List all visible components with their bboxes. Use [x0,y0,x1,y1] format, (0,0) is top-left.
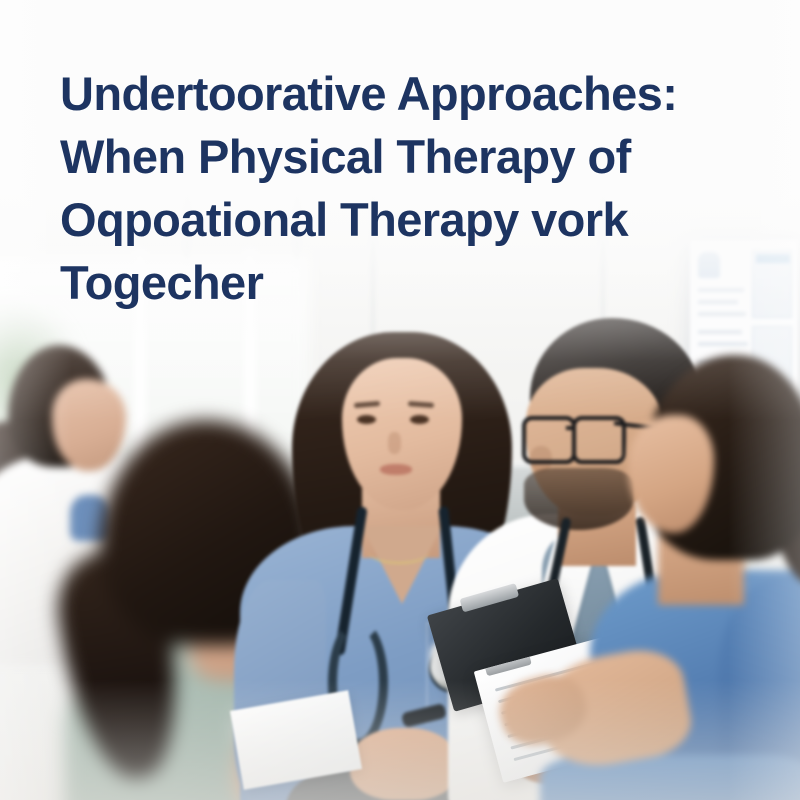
necklace [368,538,430,564]
headline-line-2: When Physical Therapy of [60,125,740,188]
beard [524,468,634,530]
headline-line-4: Togecher [60,251,740,314]
floor [0,680,800,800]
mouth [380,464,412,475]
blog-header-card: Undertoorative Approaches: When Physical… [0,0,800,800]
eye [410,415,429,424]
poster-highlight [756,254,790,263]
headline: Undertoorative Approaches: When Physical… [60,62,740,314]
headline-line-1: Undertoorative Approaches: [60,62,740,125]
headline-line-3: Oqpoational Therapy vork [60,188,740,251]
eye [357,415,376,424]
nose [388,432,401,454]
eyeglasses-icon [522,416,576,464]
eyeglasses-bridge [566,426,576,430]
